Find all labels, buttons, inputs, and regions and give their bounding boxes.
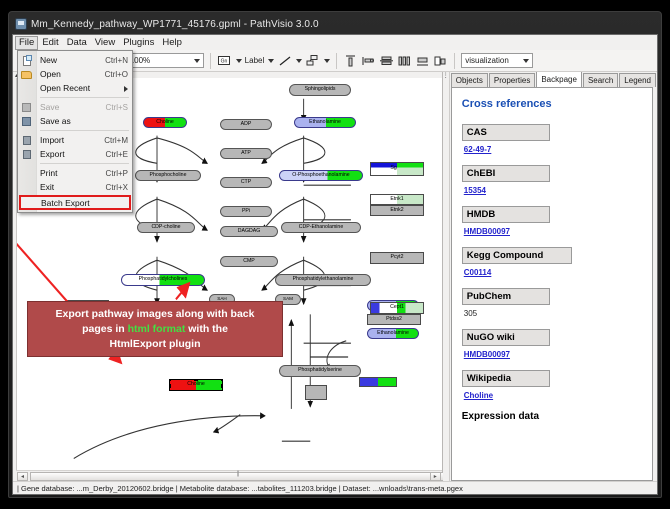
- menu-edit[interactable]: Edit: [38, 36, 62, 50]
- xref-value-cas[interactable]: 62-49-7: [464, 145, 642, 154]
- node-label: ADP: [241, 122, 252, 127]
- bring-front-icon[interactable]: [433, 53, 448, 68]
- screenshot-root: Mm_Kennedy_pathway_WP1771_45176.gpml - P…: [0, 0, 670, 509]
- node-label: ATP: [241, 151, 251, 156]
- pathway-node[interactable]: CDP-choline: [137, 222, 195, 233]
- gene-node[interactable]: Sgpl1: [370, 162, 424, 176]
- menu-item-label: Print: [40, 168, 106, 178]
- menu-item-accel: Ctrl+O: [105, 70, 128, 79]
- node-label: DAGDAG: [238, 229, 260, 234]
- gene-node-chka[interactable]: [359, 377, 397, 387]
- xref-link-kegg[interactable]: C00114: [464, 268, 492, 277]
- callout-line-2-b: with the: [185, 323, 228, 335]
- xref-header-nugo: NuGO wiki: [462, 329, 550, 346]
- pathway-node[interactable]: Ethanolamine: [367, 328, 419, 339]
- pathway-node[interactable]: PPi: [220, 206, 272, 217]
- submenu-arrow-icon: [124, 86, 128, 92]
- node-label: Ethanolamine: [309, 120, 341, 125]
- side-panel-tabs: Objects Properties Backpage Search Legen…: [451, 72, 657, 87]
- stack-center-icon[interactable]: [379, 53, 394, 68]
- pathway-node[interactable]: ATP: [220, 148, 272, 159]
- xref-value-wikipedia[interactable]: Choline: [464, 391, 642, 400]
- export-icon: [21, 149, 32, 160]
- line-dropdown-arrow[interactable]: [296, 59, 302, 63]
- gene-node[interactable]: Etnk1: [370, 194, 424, 205]
- node-label: CDP-choline: [151, 225, 180, 230]
- window-title: Mm_Kennedy_pathway_WP1771_45176.gpml - P…: [31, 19, 319, 30]
- pathway-node-selected[interactable]: Choline: [169, 379, 223, 391]
- menu-item-accel: Ctrl+M: [104, 136, 128, 145]
- xref-value-hmdb[interactable]: HMDB00097: [464, 227, 642, 236]
- menu-item-new[interactable]: New Ctrl+N: [18, 53, 132, 67]
- pathvisio-app-icon: [15, 18, 27, 30]
- node-label: Choline: [156, 120, 174, 125]
- node-label: Choline: [187, 382, 205, 387]
- interaction-icon[interactable]: [305, 53, 320, 68]
- application-window: Mm_Kennedy_pathway_WP1771_45176.gpml - P…: [8, 11, 662, 498]
- node-label: Phosphocholine: [150, 173, 187, 178]
- backpage-title: Cross references: [462, 98, 642, 110]
- xref-header-pubchem: PubChem: [462, 288, 550, 305]
- annotation-callout: Export pathway images along with back pa…: [27, 301, 283, 357]
- menu-item-exit[interactable]: Exit Ctrl+X: [18, 180, 132, 194]
- tab-legend[interactable]: Legend: [619, 73, 656, 87]
- pathway-node[interactable]: CDP-Ethanolamine: [281, 222, 361, 233]
- xref-header-kegg: Kegg Compound: [462, 247, 572, 264]
- xref-header-wikipedia: Wikipedia: [462, 370, 550, 387]
- menu-separator: [40, 163, 129, 164]
- menu-item-label: New: [40, 55, 105, 65]
- menu-help[interactable]: Help: [158, 36, 186, 50]
- xref-header-chebi: ChEBI: [462, 165, 550, 182]
- pathway-node[interactable]: CMP: [220, 256, 278, 267]
- chevron-down-icon: [194, 59, 200, 63]
- menu-item-accel: Ctrl+E: [106, 150, 128, 159]
- node-label: CMP: [243, 259, 255, 264]
- xref-header-hmdb: HMDB: [462, 206, 550, 223]
- distribute-icon[interactable]: [397, 53, 412, 68]
- node-label: Phosphatidylserine: [298, 368, 342, 373]
- resize-handle[interactable]: [194, 379, 198, 381]
- node-label: Pcyt2: [391, 255, 404, 260]
- toolbar-separator: [454, 53, 455, 69]
- label-dropdown-arrow[interactable]: [268, 59, 274, 63]
- menu-item-save: Save Ctrl+S: [18, 100, 132, 114]
- expression-data-heading: Expression data: [462, 411, 642, 422]
- open-folder-icon: [21, 69, 32, 80]
- pathway-node[interactable]: Phosphatidylserine: [279, 365, 361, 377]
- xref-value-nugo[interactable]: HMDB00097: [464, 350, 642, 359]
- resize-handle[interactable]: [221, 379, 223, 381]
- xref-link-nugo[interactable]: HMDB00097: [464, 350, 510, 359]
- interaction-dropdown-arrow[interactable]: [324, 59, 330, 63]
- file-menu-dropdown: New Ctrl+N Open Ctrl+O Open Recent Save: [17, 50, 133, 213]
- menu-item-open-recent[interactable]: Open Recent: [18, 81, 132, 95]
- menu-file[interactable]: File: [15, 36, 38, 50]
- gene-node[interactable]: Cept1: [370, 302, 424, 314]
- pathway-node[interactable]: Choline: [143, 117, 187, 128]
- tab-objects[interactable]: Objects: [451, 73, 488, 87]
- menu-bar: File Edit Data View Plugins Help: [13, 35, 657, 50]
- tab-search[interactable]: Search: [583, 73, 618, 87]
- side-panel: ⋮ Objects Properties Backpage Search Leg…: [443, 72, 657, 481]
- xref-value-pubchem: 305: [464, 309, 642, 318]
- menu-item-label: Batch Export: [41, 198, 125, 208]
- backpage-content: Cross references CAS 62-49-7 ChEBI 15354…: [451, 87, 653, 481]
- menu-view[interactable]: View: [91, 36, 119, 50]
- visualization-combobox[interactable]: visualization: [461, 53, 533, 68]
- node-label: Sphingolipids: [305, 87, 336, 92]
- save-icon: [21, 102, 32, 113]
- xref-link-chebi[interactable]: 15354: [464, 186, 486, 195]
- gene-node[interactable]: Etnk2: [370, 205, 424, 216]
- node-label: Etnk1: [390, 197, 403, 202]
- xref-link-cas[interactable]: 62-49-7: [464, 145, 492, 154]
- toolbar-separator: [210, 53, 211, 69]
- tab-properties[interactable]: Properties: [489, 73, 535, 87]
- menu-item-label: Save: [40, 102, 106, 112]
- callout-line-2: pages in html format with the: [28, 322, 282, 337]
- menu-item-open[interactable]: Open Ctrl+O: [18, 67, 132, 81]
- import-icon: [21, 135, 32, 146]
- pathway-node[interactable]: Phosphatidylethanolamine: [275, 274, 371, 286]
- label-tool-label[interactable]: Label: [245, 56, 265, 65]
- toolbar-separator: [336, 53, 337, 69]
- status-text: | Gene database: ...m_Derby_20120602.bri…: [17, 484, 463, 493]
- node-label: Ethanolamine: [377, 331, 409, 336]
- xref-value-kegg[interactable]: C00114: [464, 268, 642, 277]
- xref-value-chebi[interactable]: 15354: [464, 186, 642, 195]
- node-label: SAM: [283, 297, 293, 302]
- menu-item-label: Save as: [40, 116, 128, 126]
- node-label: PPi: [242, 209, 250, 214]
- menu-item-label: Open Recent: [40, 83, 128, 93]
- pathway-node[interactable]: Phosphocholine: [135, 170, 201, 181]
- callout-line-2-highlight: html format: [128, 323, 186, 335]
- xref-link-wikipedia[interactable]: Choline: [464, 391, 493, 400]
- menu-item-save-as[interactable]: Save as: [18, 114, 132, 128]
- menu-item-accel: Ctrl+X: [106, 183, 128, 192]
- zoom-combobox[interactable]: 100%: [126, 53, 204, 68]
- pathway-node[interactable]: Ethanolamine: [294, 117, 356, 128]
- menu-data[interactable]: Data: [63, 36, 91, 50]
- menu-item-accel: Ctrl+P: [106, 169, 128, 178]
- menu-plugins[interactable]: Plugins: [119, 36, 158, 50]
- menu-item-label: Exit: [40, 182, 106, 192]
- scrollbar-thumb[interactable]: [30, 472, 445, 481]
- tab-backpage[interactable]: Backpage: [536, 71, 582, 87]
- chevron-down-icon: [523, 59, 529, 63]
- resize-handle[interactable]: [221, 384, 223, 388]
- menu-separator: [40, 130, 129, 131]
- scroll-right-button[interactable]: ▸: [430, 472, 441, 481]
- callout-line-2-a: pages in: [82, 323, 128, 335]
- resize-handle[interactable]: [169, 379, 171, 381]
- size-equal-icon[interactable]: [415, 53, 430, 68]
- xref-header-cas: CAS: [462, 124, 550, 141]
- gene-node[interactable]: Pcyt2: [370, 252, 424, 264]
- resize-handle[interactable]: [169, 384, 171, 388]
- menu-item-accel: Ctrl+S: [106, 103, 128, 112]
- pathway-node[interactable]: Sphingolipids: [289, 84, 351, 96]
- gene-node[interactable]: Ptdss2: [367, 314, 421, 325]
- menu-item-label: Export: [40, 149, 106, 159]
- callout-line-1: Export pathway images along with back: [28, 307, 282, 322]
- menu-item-import[interactable]: Import Ctrl+M: [18, 133, 132, 147]
- title-bar: Mm_Kennedy_pathway_WP1771_45176.gpml - P…: [11, 14, 659, 34]
- pathway-node[interactable]: CTP: [220, 177, 272, 188]
- canvas-horizontal-scrollbar[interactable]: ◂ ▸: [16, 470, 442, 481]
- status-bar: | Gene database: ...m_Derby_20120602.bri…: [13, 481, 657, 494]
- pathway-node[interactable]: O-Phosphoethanolamine: [279, 170, 363, 181]
- datanode-icon[interactable]: Gn: [217, 53, 232, 68]
- align-top-icon[interactable]: [343, 53, 358, 68]
- node-label: Cept1: [390, 305, 404, 310]
- xref-link-hmdb[interactable]: HMDB00097: [464, 227, 510, 236]
- svg-text:Gn: Gn: [221, 59, 228, 65]
- new-document-icon: [21, 55, 32, 66]
- datanode-dropdown-arrow[interactable]: [236, 59, 242, 63]
- node-label: Phosphatidylethanolamine: [293, 277, 354, 282]
- node-label: Etnk2: [390, 208, 403, 213]
- menu-item-accel: Ctrl+N: [105, 56, 128, 65]
- node-label: CDP-Ethanolamine: [299, 225, 343, 230]
- node-label: O-Phosphoethanolamine: [292, 173, 349, 178]
- menu-item-label: Import: [40, 135, 104, 145]
- node-label: Phosphatidylcholines: [139, 277, 188, 282]
- node-label: Ptdss2: [386, 317, 402, 322]
- align-left-icon[interactable]: [361, 53, 376, 68]
- pathway-node[interactable]: DAGDAG: [220, 226, 278, 237]
- visualization-value: visualization: [465, 56, 509, 65]
- menu-separator: [40, 97, 129, 98]
- pathway-node[interactable]: ADP: [220, 119, 272, 130]
- menu-item-print[interactable]: Print Ctrl+P: [18, 166, 132, 180]
- application-client-area: File Edit Data View Plugins Help Zoom: 1…: [12, 34, 658, 495]
- line-icon[interactable]: [277, 53, 292, 68]
- pathway-node[interactable]: Phosphatidylcholines: [121, 274, 205, 286]
- panel-splitter[interactable]: ⋮: [443, 72, 450, 481]
- menu-item-label: Open: [40, 69, 105, 79]
- scroll-left-button[interactable]: ◂: [17, 472, 28, 481]
- save-as-icon: [21, 116, 32, 127]
- menu-item-export[interactable]: Export Ctrl+E: [18, 147, 132, 161]
- menu-item-batch-export[interactable]: Batch Export: [19, 195, 131, 210]
- gene-node-pemt[interactable]: [305, 385, 327, 400]
- node-label: CTP: [241, 180, 251, 185]
- callout-line-3: HtmlExport plugin: [28, 337, 282, 352]
